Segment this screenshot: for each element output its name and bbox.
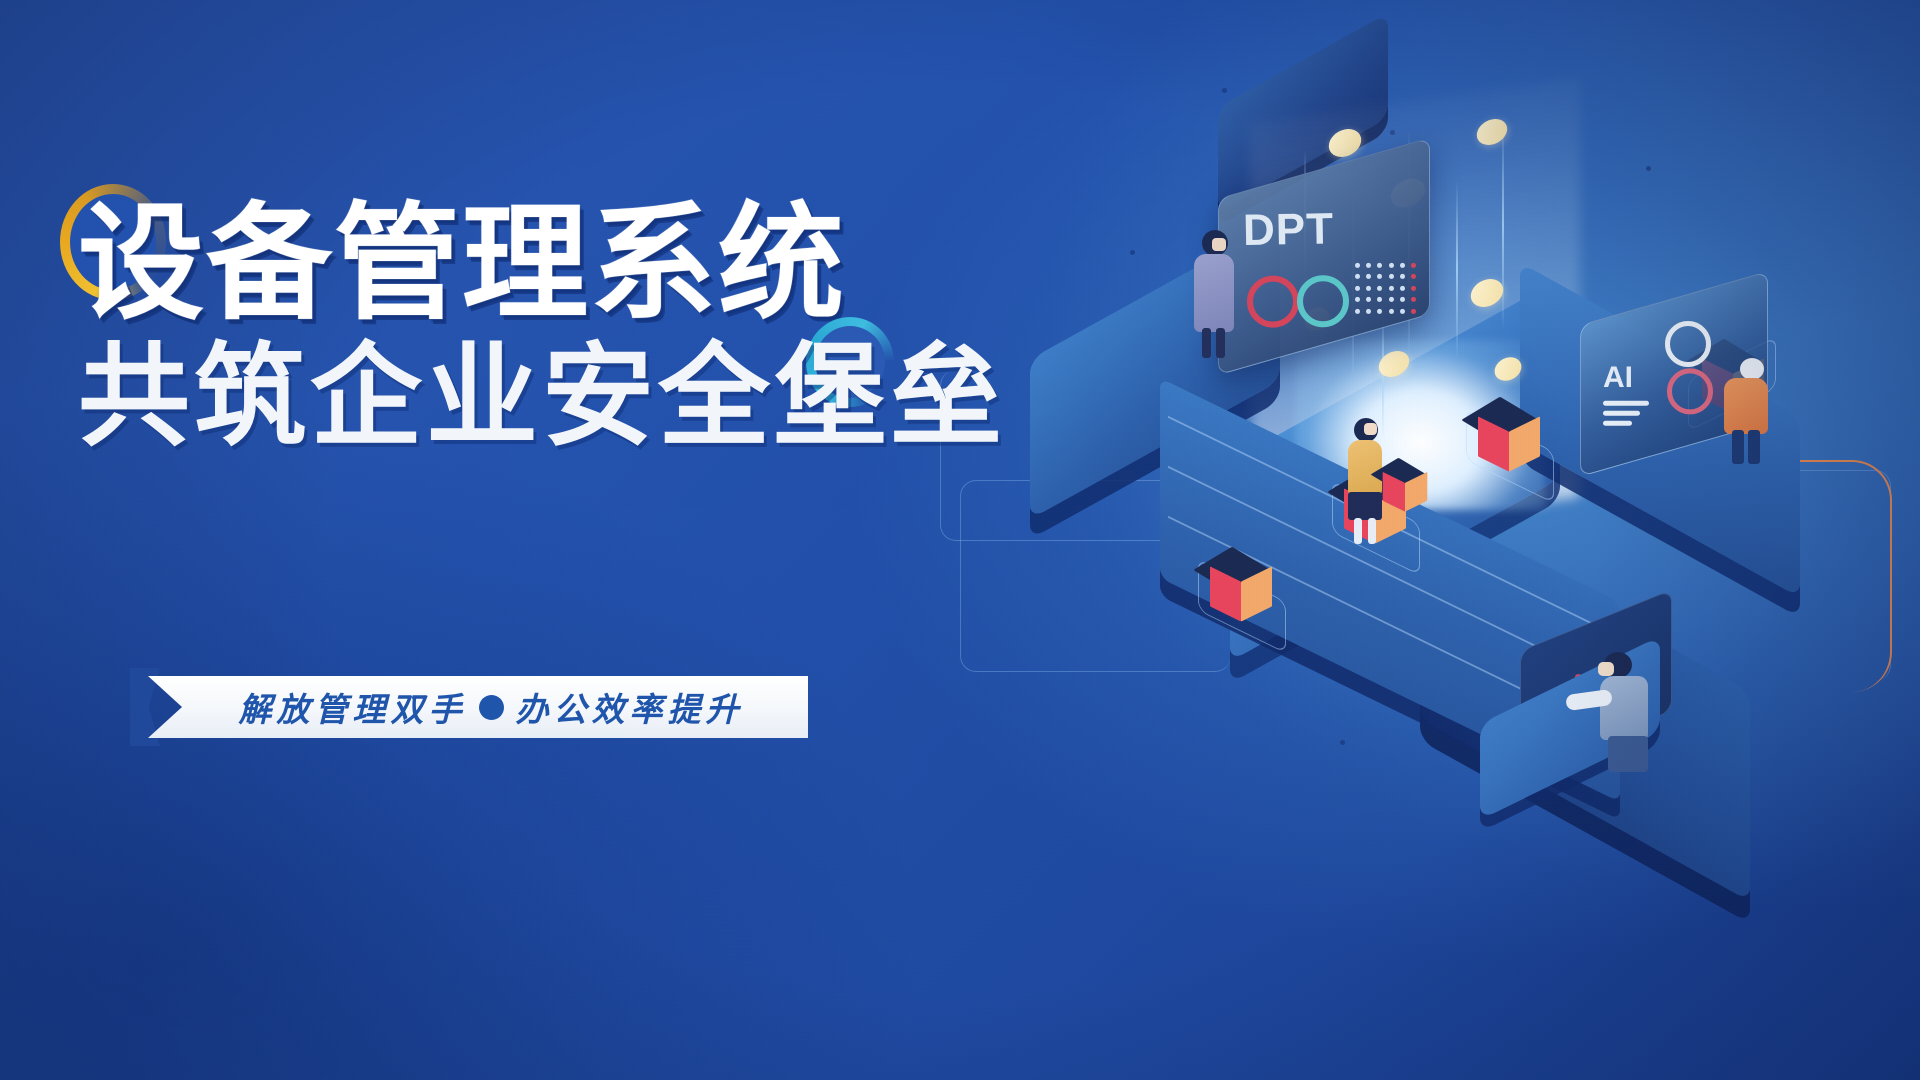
- figure-coat: [1194, 254, 1234, 332]
- figure-leg: [1368, 518, 1376, 544]
- light-streak: [1456, 180, 1458, 360]
- figure-shirt: [1600, 676, 1648, 740]
- headline-block: 设备管理系统 共筑企业安全堡垒: [78, 200, 978, 455]
- ai-ring-white-icon: [1665, 321, 1711, 367]
- desk-chair: [1608, 736, 1648, 772]
- carried-package-cube: [1383, 459, 1428, 504]
- figure-operator-at-desk: [1590, 652, 1660, 772]
- tagline-text-left: 解放管理双手: [239, 683, 467, 731]
- figure-skirt: [1348, 492, 1382, 520]
- figure-face: [1364, 423, 1377, 435]
- bg-dot: [1340, 740, 1345, 745]
- figure-shirt: [1348, 440, 1382, 496]
- figure-worker-carrying-box: [1342, 418, 1398, 546]
- figure-technician-at-dpt: [1186, 230, 1242, 360]
- figure-analyst-at-ai: [1718, 358, 1778, 468]
- package-cube: [1210, 548, 1272, 610]
- promo-banner: DPT: [0, 0, 1920, 1080]
- page-title-line2: 共筑企业安全堡垒: [78, 339, 978, 455]
- figure-head: [1740, 358, 1764, 380]
- ai-screen-label: AI: [1603, 361, 1633, 395]
- tagline-separator-dot-icon: [479, 695, 504, 720]
- tagline-text-right: 办公效率提升: [516, 683, 744, 731]
- package-cube: [1478, 398, 1540, 460]
- bg-dot: [1646, 166, 1651, 171]
- tagline-ribbon: 解放管理双手 办公效率提升: [148, 676, 808, 738]
- page-title-line1: 设备管理系统: [78, 200, 978, 329]
- figure-leg: [1732, 430, 1744, 464]
- dpt-ring-teal-icon: [1297, 275, 1349, 327]
- figure-face: [1212, 238, 1226, 251]
- figure-leg: [1202, 328, 1211, 358]
- dpt-screen-label: DPT: [1243, 204, 1335, 256]
- figure-leg: [1354, 518, 1362, 544]
- isometric-illustration: DPT: [1090, 40, 1920, 1040]
- figure-face: [1598, 662, 1614, 676]
- dpt-ring-red-icon: [1247, 276, 1299, 328]
- bg-dot: [1130, 250, 1135, 255]
- ai-text-lines: [1603, 401, 1649, 431]
- figure-leg: [1216, 328, 1225, 358]
- figure-leg: [1748, 430, 1760, 464]
- bg-dot: [1222, 88, 1227, 93]
- figure-shirt: [1724, 378, 1768, 434]
- light-streak: [1502, 120, 1504, 330]
- ai-ring-red-icon: [1667, 368, 1713, 414]
- dpt-dot-matrix: [1355, 263, 1419, 317]
